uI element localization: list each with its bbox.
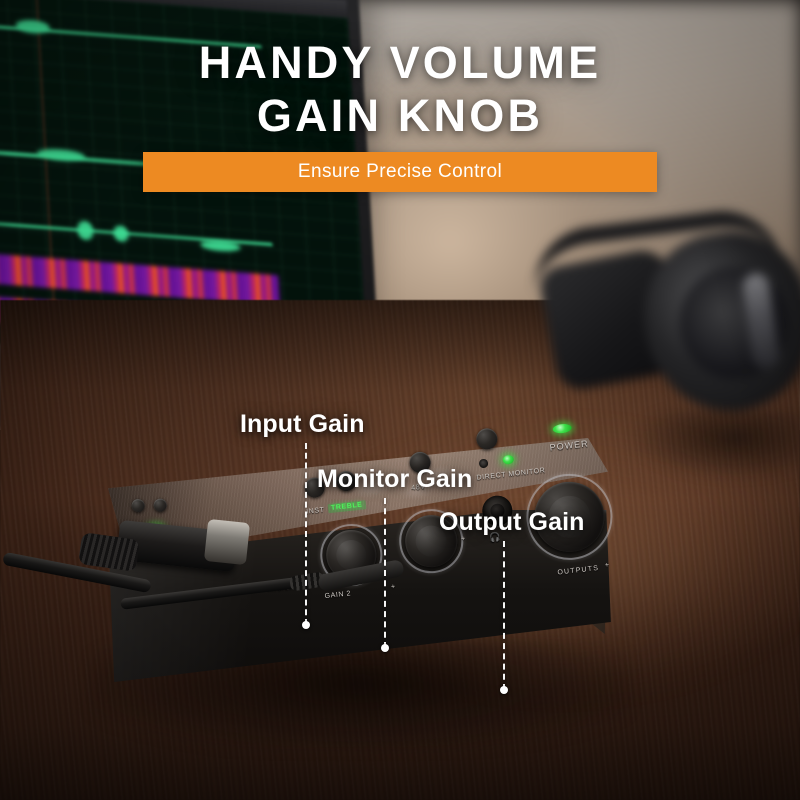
pad-button-1[interactable] xyxy=(131,498,145,512)
direct-monitor-mono-led xyxy=(479,458,489,468)
outputs-label: OUTPUTS xyxy=(557,565,599,577)
direct-monitor-button[interactable] xyxy=(475,427,498,450)
gain-plus-label: + xyxy=(391,583,396,590)
treble-led-label: TREBLE xyxy=(328,500,366,513)
direct-monitor-label: DIRECT MONITOR xyxy=(476,466,546,483)
callout-input-gain: Input Gain xyxy=(240,410,365,439)
direct-monitor-stereo-led xyxy=(502,455,514,465)
pad-button-2[interactable] xyxy=(153,498,167,512)
outputs-plus-label: + xyxy=(605,562,610,569)
callout-monitor-gain: Monitor Gain xyxy=(317,465,472,494)
gain-2-label: GAIN 2 xyxy=(324,590,351,600)
leader-dot-monitor-gain xyxy=(381,644,389,652)
leader-line-input-gain xyxy=(305,443,307,625)
inst-label: INST xyxy=(306,507,325,516)
leader-line-monitor-gain xyxy=(384,498,386,648)
leader-line-output-gain xyxy=(503,541,505,690)
headline-line-2: GAIN KNOB xyxy=(0,89,800,142)
xlr-strain-relief xyxy=(78,532,140,572)
xlr-cable-assembly xyxy=(80,512,270,622)
xlr-connector-chuck xyxy=(204,519,250,565)
power-label: POWER xyxy=(549,438,589,452)
callout-output-gain: Output Gain xyxy=(439,508,585,537)
headline-line-1: HANDY VOLUME xyxy=(199,37,602,88)
subtitle-text: Ensure Precise Control xyxy=(298,161,502,183)
headphone-shadow xyxy=(630,410,800,480)
headline: HANDY VOLUME GAIN KNOB xyxy=(0,36,800,142)
power-led xyxy=(552,423,572,434)
leader-dot-output-gain xyxy=(500,686,508,694)
leader-dot-input-gain xyxy=(302,621,310,629)
product-marketing-image: MIC/LINE 2 INST TREBLE GAIN 2 + 48V DIRE… xyxy=(0,0,800,800)
subtitle-banner: Ensure Precise Control xyxy=(143,152,657,192)
